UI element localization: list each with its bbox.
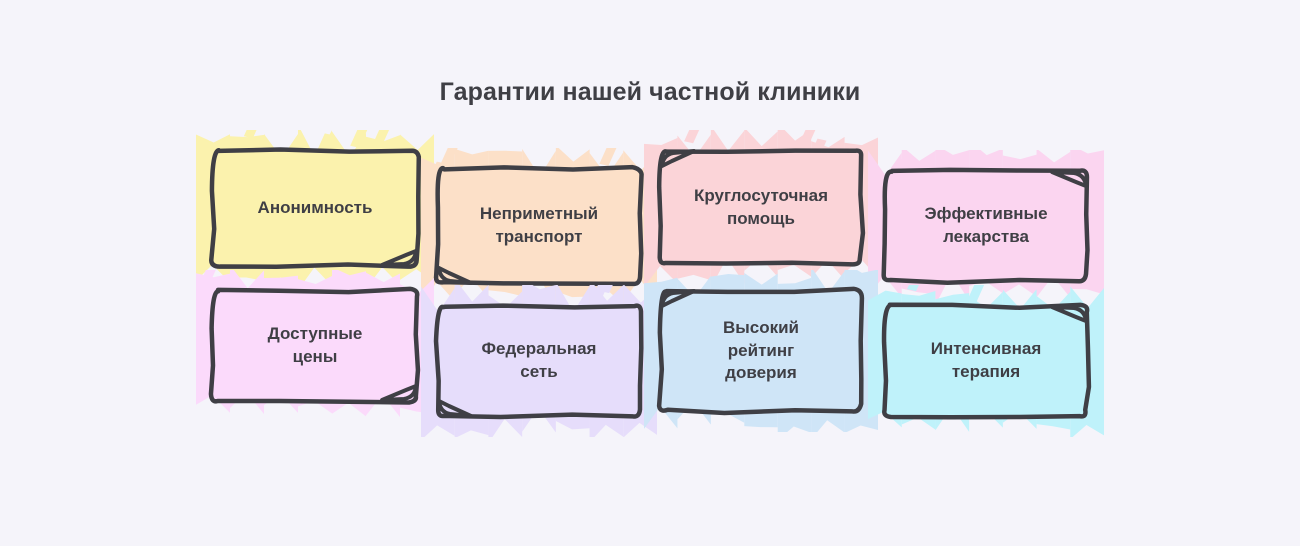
guarantee-card-anonimnost[interactable]: Анонимность <box>212 150 418 267</box>
guarantee-card-dostupnye-tseny[interactable]: Доступные цены <box>212 290 418 402</box>
card-sketch-shape-kruglosutochnaya-pomoshch <box>660 150 862 265</box>
card-body-fill <box>884 170 1088 283</box>
card-body-fill <box>436 306 641 417</box>
card-body-fill <box>884 305 1089 418</box>
guarantee-card-effektivnye-lekarstva[interactable]: Эффективные лекарства <box>884 170 1088 282</box>
guarantee-card-neprimetnyy-transport[interactable]: Неприметный транспорт <box>437 168 641 284</box>
guarantee-card-federalnaya-set[interactable]: Федеральная сеть <box>437 305 641 417</box>
card-sketch-shape-vysokiy-reyting-doveriya <box>660 290 862 412</box>
guarantee-card-intensivnaya-terapiya[interactable]: Интенсивная терапия <box>884 305 1088 417</box>
card-sketch-shape-federalnaya-set <box>437 305 641 417</box>
card-sketch-shape-effektivnye-lekarstva <box>884 170 1088 282</box>
card-body-fill <box>659 289 862 413</box>
guarantee-card-kruglosutochnaya-pomoshch[interactable]: Круглосуточная помощь <box>660 150 862 265</box>
card-sketch-shape-neprimetnyy-transport <box>437 168 641 284</box>
card-body-fill <box>659 151 863 265</box>
guarantee-card-vysokiy-reyting-doveriya[interactable]: Высокий рейтинг доверия <box>660 290 862 412</box>
card-sketch-shape-anonimnost <box>212 150 418 267</box>
card-body-fill <box>436 167 642 284</box>
card-sketch-shape-dostupnye-tseny <box>212 290 418 402</box>
card-body-fill <box>211 289 418 403</box>
card-sketch-shape-intensivnaya-terapiya <box>884 305 1088 417</box>
card-body-fill <box>211 149 419 266</box>
infographic-canvas: Гарантии нашей частной клиники Анонимнос… <box>0 0 1300 546</box>
page-title: Гарантии нашей частной клиники <box>0 78 1300 107</box>
